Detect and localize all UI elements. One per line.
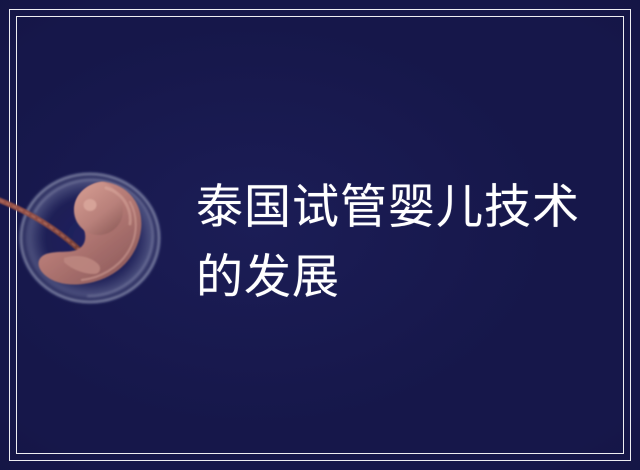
title-line-1: 泰国试管婴儿技术 xyxy=(196,172,616,242)
embryo-illustration xyxy=(2,158,178,316)
title-line-2: 的发展 xyxy=(196,242,616,312)
title-card: 泰国试管婴儿技术 的发展 xyxy=(0,0,640,470)
page-title: 泰国试管婴儿技术 的发展 xyxy=(196,172,616,312)
embryo-eye xyxy=(84,199,97,211)
